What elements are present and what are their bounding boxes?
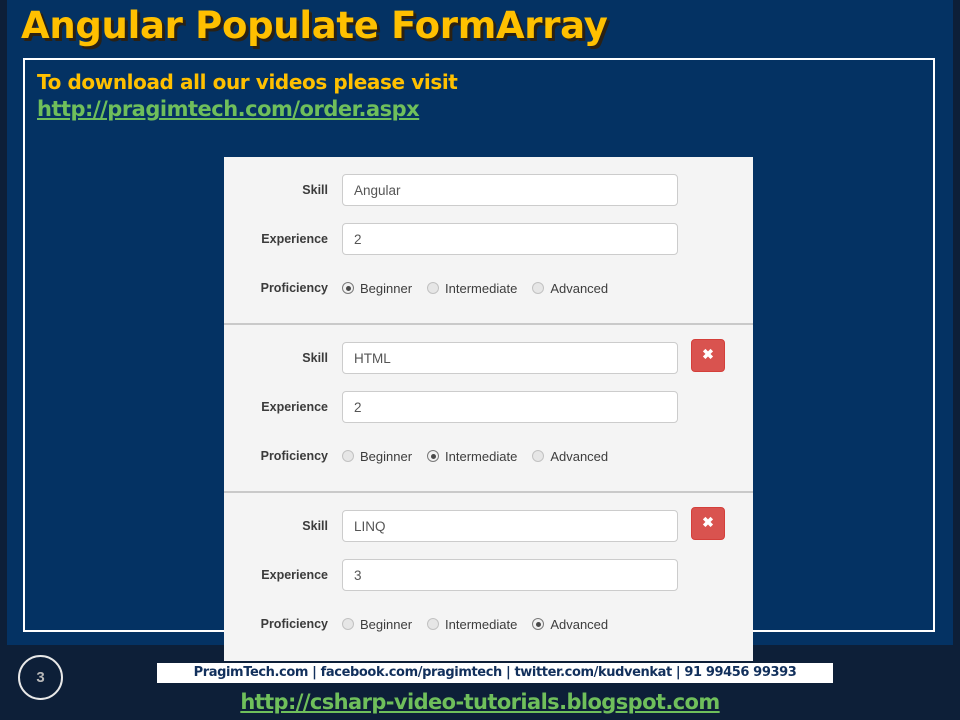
radio-mark-icon	[532, 618, 544, 630]
radio-label: Beginner	[360, 617, 412, 632]
radio-beginner[interactable]: Beginner	[342, 617, 412, 632]
skill-label: Skill	[224, 351, 342, 365]
experience-input[interactable]	[342, 559, 678, 591]
radio-label: Advanced	[550, 449, 608, 464]
skill-row: Skill	[224, 341, 753, 375]
radio-mark-icon	[342, 282, 354, 294]
experience-row: Experience	[224, 558, 753, 592]
skill-input[interactable]	[342, 174, 678, 206]
radio-beginner[interactable]: Beginner	[342, 449, 412, 464]
radio-mark-icon	[532, 282, 544, 294]
promo-block: To download all our videos please visit …	[37, 70, 457, 123]
experience-input[interactable]	[342, 391, 678, 423]
proficiency-label: Proficiency	[224, 449, 342, 463]
radio-label: Advanced	[550, 617, 608, 632]
page-title: Angular Populate FormArray	[21, 4, 608, 47]
radio-mark-icon	[427, 450, 439, 462]
radio-label: Intermediate	[445, 449, 517, 464]
slide-body: Angular Populate FormArray To download a…	[7, 0, 953, 645]
radio-mark-icon	[427, 618, 439, 630]
radio-intermediate[interactable]: Intermediate	[427, 449, 517, 464]
experience-row: Experience	[224, 222, 753, 256]
skill-label: Skill	[224, 183, 342, 197]
radio-mark-icon	[342, 618, 354, 630]
proficiency-row: Proficiency Beginner Intermediate	[224, 607, 753, 641]
radio-label: Intermediate	[445, 617, 517, 632]
skill-row: Skill	[224, 509, 753, 543]
proficiency-row: Proficiency Beginner Intermediate	[224, 271, 753, 305]
promo-download-link[interactable]: http://pragimtech.com/order.aspx	[37, 97, 419, 123]
radio-advanced[interactable]: Advanced	[532, 617, 608, 632]
footer-blog-link[interactable]: http://csharp-video-tutorials.blogspot.c…	[0, 690, 960, 714]
slide: Angular Populate FormArray To download a…	[0, 0, 960, 720]
skill-row: Skill	[224, 173, 753, 207]
radio-beginner[interactable]: Beginner	[342, 281, 412, 296]
skills-form-card: Skill Experience Proficiency Beginner	[224, 157, 753, 661]
skill-input[interactable]	[342, 510, 678, 542]
radio-label: Beginner	[360, 281, 412, 296]
radio-advanced[interactable]: Advanced	[532, 449, 608, 464]
skill-group: ✖ Skill Experience Proficiency	[224, 325, 753, 493]
title-bar: Angular Populate FormArray	[7, 0, 953, 58]
radio-intermediate[interactable]: Intermediate	[427, 281, 517, 296]
experience-input[interactable]	[342, 223, 678, 255]
radio-mark-icon	[427, 282, 439, 294]
skill-group: ✖ Skill Experience Proficiency	[224, 493, 753, 661]
content-panel: To download all our videos please visit …	[23, 58, 935, 632]
footer-contact-strip: PragimTech.com | facebook.com/pragimtech…	[157, 663, 833, 683]
radio-label: Beginner	[360, 449, 412, 464]
proficiency-label: Proficiency	[224, 617, 342, 631]
proficiency-radio-group: Beginner Intermediate Advanced	[342, 281, 608, 296]
proficiency-row: Proficiency Beginner Intermediate	[224, 439, 753, 473]
experience-row: Experience	[224, 390, 753, 424]
proficiency-label: Proficiency	[224, 281, 342, 295]
radio-label: Intermediate	[445, 281, 517, 296]
proficiency-radio-group: Beginner Intermediate Advanced	[342, 449, 608, 464]
experience-label: Experience	[224, 232, 342, 246]
experience-label: Experience	[224, 400, 342, 414]
radio-intermediate[interactable]: Intermediate	[427, 617, 517, 632]
radio-label: Advanced	[550, 281, 608, 296]
radio-advanced[interactable]: Advanced	[532, 281, 608, 296]
experience-label: Experience	[224, 568, 342, 582]
radio-mark-icon	[342, 450, 354, 462]
skill-label: Skill	[224, 519, 342, 533]
promo-text: To download all our videos please visit	[37, 70, 457, 94]
radio-mark-icon	[532, 450, 544, 462]
skill-input[interactable]	[342, 342, 678, 374]
proficiency-radio-group: Beginner Intermediate Advanced	[342, 617, 608, 632]
skill-group: Skill Experience Proficiency Beginner	[224, 157, 753, 325]
